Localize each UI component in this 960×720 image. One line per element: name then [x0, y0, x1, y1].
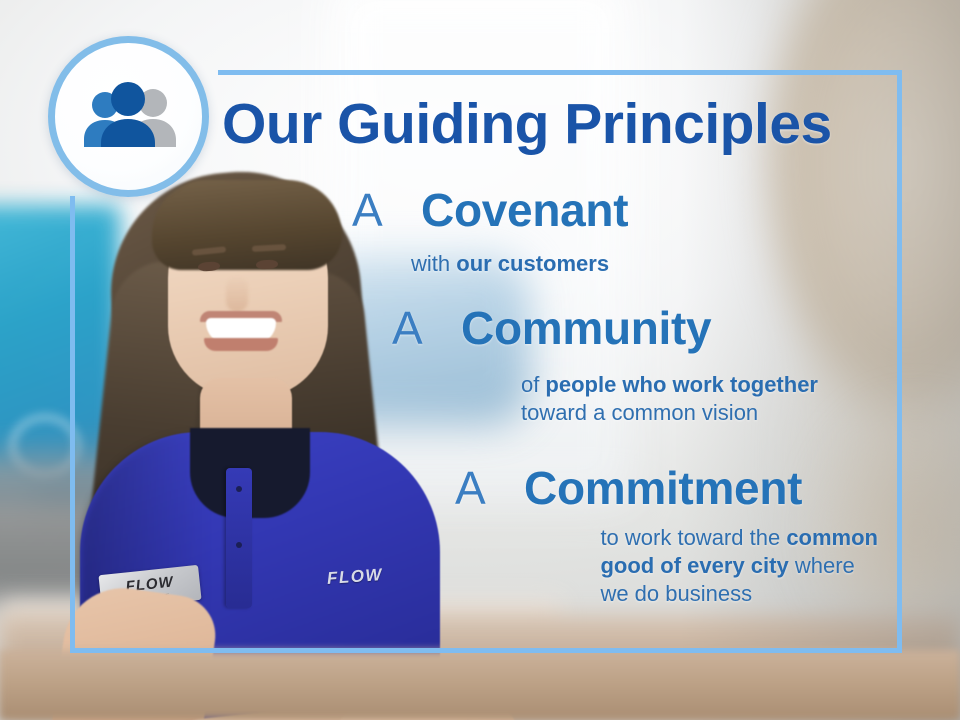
- polo-button-top: [236, 486, 242, 492]
- lower-lip: [204, 338, 278, 351]
- frame-bottom-border: [70, 648, 902, 653]
- subtext-commitment-line-1: to work toward the common: [600, 524, 878, 552]
- subtext-commitment-line-3: we do business: [600, 580, 878, 608]
- subtext-commitment-seg-3: good of every city: [600, 553, 788, 578]
- subtext-community: of people who work together toward a com…: [521, 371, 818, 427]
- headline-community: A Community: [392, 305, 711, 351]
- headline-commitment-word: Commitment: [524, 462, 802, 514]
- subtext-commitment-seg-1: to work toward the: [600, 525, 786, 550]
- headline-commitment-article: A: [455, 462, 486, 514]
- people-group-icon: [77, 81, 181, 153]
- subtext-commitment-seg-2: common: [786, 525, 878, 550]
- subtext-community-line-1: of people who work together: [521, 371, 818, 399]
- polo-button-bottom: [236, 542, 242, 548]
- subtext-commitment-line-2: good of every city where: [600, 552, 878, 580]
- hair-fringe: [152, 180, 342, 270]
- headline-covenant-word: Covenant: [421, 184, 628, 236]
- chest-logo-text: FLOW: [326, 565, 383, 589]
- subtext-community-line-2: toward a common vision: [521, 399, 818, 427]
- banner-graphic: FLOW AUTOMOTIVE FLOW: [0, 0, 960, 720]
- nose: [226, 276, 248, 312]
- headline-community-article: A: [392, 302, 423, 354]
- subtext-covenant-line-1: with our customers: [411, 250, 609, 278]
- guiding-principles-badge: [48, 36, 209, 197]
- headline-commitment: A Commitment: [455, 465, 802, 511]
- page-title: Our Guiding Principles: [222, 96, 832, 153]
- headline-covenant: A Covenant: [352, 187, 628, 233]
- headline-covenant-article: A: [352, 184, 383, 236]
- subtext-community-seg-1: of: [521, 372, 545, 397]
- subtext-covenant-seg-1: with: [411, 251, 456, 276]
- frame-right-border: [897, 70, 902, 653]
- subtext-community-seg-2: people who work together: [545, 372, 818, 397]
- frame-top-border: [218, 70, 902, 75]
- subtext-covenant: with our customers: [411, 250, 609, 278]
- headline-community-word: Community: [461, 302, 711, 354]
- subtext-covenant-seg-2: our customers: [456, 251, 609, 276]
- foreground-desk: [0, 650, 960, 720]
- subtext-commitment: to work toward the common good of every …: [600, 524, 878, 608]
- subtext-commitment-seg-4: where: [789, 553, 855, 578]
- frame-left-border: [70, 196, 75, 653]
